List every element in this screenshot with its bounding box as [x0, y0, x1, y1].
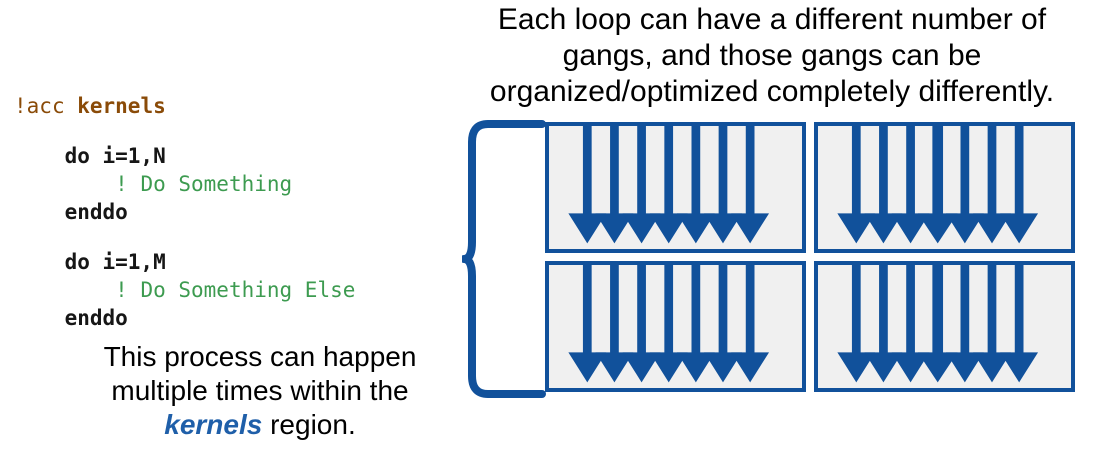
- code-spacer: [14, 120, 434, 142]
- directive-clause: kernels: [77, 94, 166, 118]
- gang-arrow-icon: [892, 126, 930, 243]
- gang-arrow-icon: [568, 126, 606, 243]
- code-caption-line-2: multiple times within the: [60, 374, 460, 408]
- gang-box-bottom-right: [814, 261, 1075, 392]
- code-text-enddo-2: enddo: [65, 306, 128, 330]
- gang-arrow-icon: [623, 265, 661, 382]
- gang-arrow-icon: [892, 265, 930, 382]
- code-line-comment-2: ! Do Something Else: [14, 276, 434, 304]
- code-caption: This process can happen multiple times w…: [60, 340, 460, 442]
- arrow-group: [568, 265, 769, 382]
- gang-grid: [545, 122, 1075, 396]
- code-caption-line-3: kernels region.: [60, 408, 460, 442]
- gang-arrow-icon: [731, 126, 769, 243]
- gang-box-top-left: [545, 122, 806, 253]
- left-curly-brace-icon: [462, 118, 546, 400]
- directive-text: acc: [27, 94, 78, 118]
- gang-arrow-icon: [1000, 265, 1038, 382]
- code-text-comment-2: ! Do Something Else: [115, 278, 355, 302]
- arrow-group: [837, 126, 1038, 243]
- code-caption-line-3-tail: region.: [262, 409, 355, 440]
- gang-arrow-icon: [568, 265, 606, 382]
- grid-heading: Each loop can have a different number of…: [448, 2, 1096, 110]
- code-indent-1: [14, 144, 65, 168]
- code-indent-6: [14, 306, 65, 330]
- code-line-do-m: do i=1,M: [14, 248, 434, 276]
- gang-arrow-icon: [973, 265, 1011, 382]
- code-indent-2: [14, 172, 115, 196]
- arrow-group: [568, 126, 769, 243]
- gang-arrow-icon: [596, 126, 634, 243]
- code-indent-4: [14, 250, 65, 274]
- gang-arrow-icon: [650, 265, 688, 382]
- code-text-enddo-1: enddo: [65, 200, 128, 224]
- gang-arrow-icon: [865, 126, 903, 243]
- gang-arrow-icon: [865, 265, 903, 382]
- gang-arrow-icon: [1000, 126, 1038, 243]
- code-spacer-2: [14, 226, 434, 248]
- gang-arrows-bottom-left: [549, 265, 802, 388]
- gang-arrow-icon: [677, 126, 715, 243]
- gang-arrow-icon: [946, 265, 984, 382]
- code-indent-5: [14, 278, 115, 302]
- code-line-comment-1: ! Do Something: [14, 170, 434, 198]
- gang-arrows-top-right: [818, 126, 1071, 249]
- gang-arrow-icon: [918, 265, 958, 382]
- gang-arrow-icon: [837, 126, 875, 243]
- grid-heading-line-2: gangs, and those gangs can be: [448, 38, 1096, 74]
- code-line-enddo-2: enddo: [14, 304, 434, 332]
- arrow-group: [837, 265, 1038, 382]
- code-indent-3: [14, 200, 65, 224]
- code-line-do-n: do i=1,N: [14, 142, 434, 170]
- gang-arrows-top-left: [549, 126, 802, 249]
- gang-arrow-icon: [918, 126, 958, 243]
- code-caption-line-1: This process can happen: [60, 340, 460, 374]
- gang-arrow-icon: [704, 265, 742, 382]
- grid-heading-line-1: Each loop can have a different number of: [448, 2, 1096, 38]
- gang-arrow-icon: [677, 265, 715, 382]
- gang-arrow-icon: [650, 126, 688, 243]
- code-text-do-m: do i=1,M: [65, 250, 166, 274]
- code-line-directive: !acc kernels: [14, 92, 434, 120]
- gang-arrow-icon: [704, 126, 742, 243]
- gang-box-top-right: [814, 122, 1075, 253]
- gang-arrows-bottom-right: [818, 265, 1071, 388]
- gang-arrow-icon: [973, 126, 1011, 243]
- gang-box-bottom-left: [545, 261, 806, 392]
- code-text-do-n: do i=1,N: [65, 144, 166, 168]
- code-caption-kernels-highlight: kernels: [164, 409, 262, 440]
- code-panel: !acc kernels do i=1,N ! Do Something end…: [14, 92, 434, 332]
- gang-arrow-icon: [731, 265, 769, 382]
- grid-heading-line-3: organized/optimized completely different…: [448, 74, 1096, 110]
- brace: [462, 118, 546, 400]
- gang-arrow-icon: [837, 265, 875, 382]
- code-line-enddo-1: enddo: [14, 198, 434, 226]
- directive-sentinel: !: [14, 94, 27, 118]
- gang-arrow-icon: [623, 126, 661, 243]
- gang-arrow-icon: [946, 126, 984, 243]
- gang-arrow-icon: [596, 265, 634, 382]
- code-text-comment-1: ! Do Something: [115, 172, 292, 196]
